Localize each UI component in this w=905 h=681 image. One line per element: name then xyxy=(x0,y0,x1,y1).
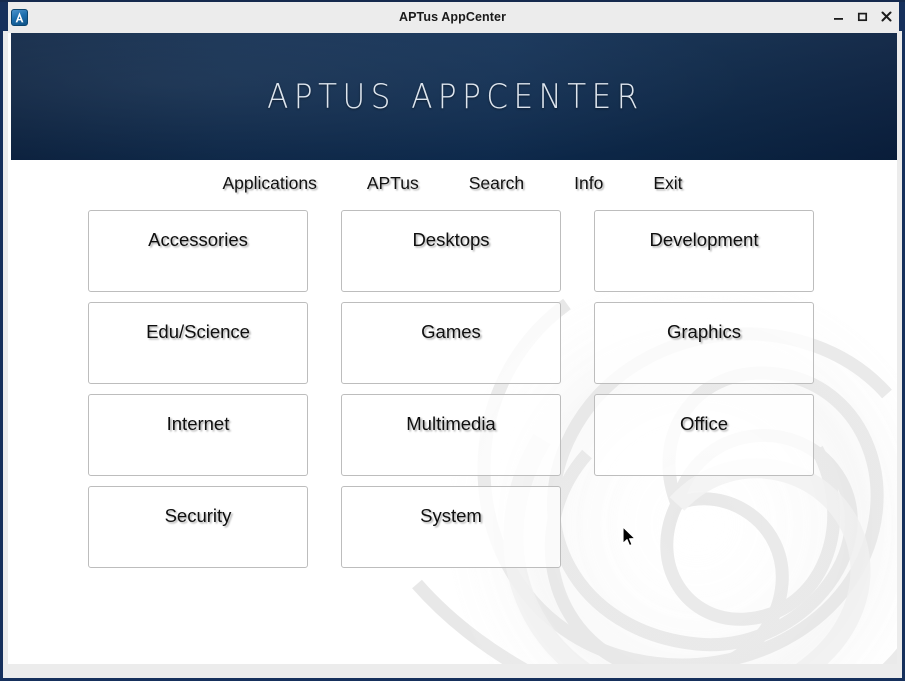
category-label: Office xyxy=(680,413,728,435)
title-bar: APTus AppCenter xyxy=(0,0,905,31)
category-button-edu-science[interactable]: Edu/Science xyxy=(88,302,308,384)
category-button-multimedia[interactable]: Multimedia xyxy=(341,394,561,476)
category-label: Desktops xyxy=(412,229,489,251)
category-button-graphics[interactable]: Graphics xyxy=(594,302,814,384)
category-button-internet[interactable]: Internet xyxy=(88,394,308,476)
category-label: Games xyxy=(421,321,481,343)
category-button-office[interactable]: Office xyxy=(594,394,814,476)
menu-item-info[interactable]: Info xyxy=(566,171,611,196)
menu-item-exit[interactable]: Exit xyxy=(645,171,690,196)
category-label: Graphics xyxy=(667,321,741,343)
category-label: Internet xyxy=(167,413,230,435)
category-button-games[interactable]: Games xyxy=(341,302,561,384)
category-label: System xyxy=(420,505,482,527)
main-menu-bar: Applications APTus Search Info Exit xyxy=(8,161,897,205)
category-label: Development xyxy=(649,229,758,251)
category-button-security[interactable]: Security xyxy=(88,486,308,568)
client-area: APTUS APPCENTER Applications APTus Searc… xyxy=(8,33,897,664)
category-label: Security xyxy=(165,505,232,527)
window-controls xyxy=(832,2,893,31)
category-button-system[interactable]: System xyxy=(341,486,561,568)
app-banner: APTUS APPCENTER xyxy=(11,33,897,160)
minimize-button[interactable] xyxy=(832,9,845,25)
menu-item-aptus[interactable]: APTus xyxy=(359,171,427,196)
category-grid-empty-slot xyxy=(594,486,814,568)
maximize-button[interactable] xyxy=(856,9,869,25)
category-button-desktops[interactable]: Desktops xyxy=(341,210,561,292)
banner-title: APTUS APPCENTER xyxy=(11,33,897,160)
app-window: APTus AppCenter xyxy=(0,0,905,681)
category-label: Multimedia xyxy=(406,413,495,435)
category-label: Accessories xyxy=(148,229,248,251)
window-frame: APTUS APPCENTER Applications APTus Searc… xyxy=(0,31,905,681)
category-grid: Accessories Desktops Development Edu/Sci… xyxy=(88,210,818,568)
menu-item-applications[interactable]: Applications xyxy=(214,171,324,196)
category-button-development[interactable]: Development xyxy=(594,210,814,292)
menu-item-search[interactable]: Search xyxy=(461,171,532,196)
close-button[interactable] xyxy=(880,9,893,25)
category-button-accessories[interactable]: Accessories xyxy=(88,210,308,292)
window-title: APTus AppCenter xyxy=(0,2,905,31)
category-label: Edu/Science xyxy=(146,321,250,343)
